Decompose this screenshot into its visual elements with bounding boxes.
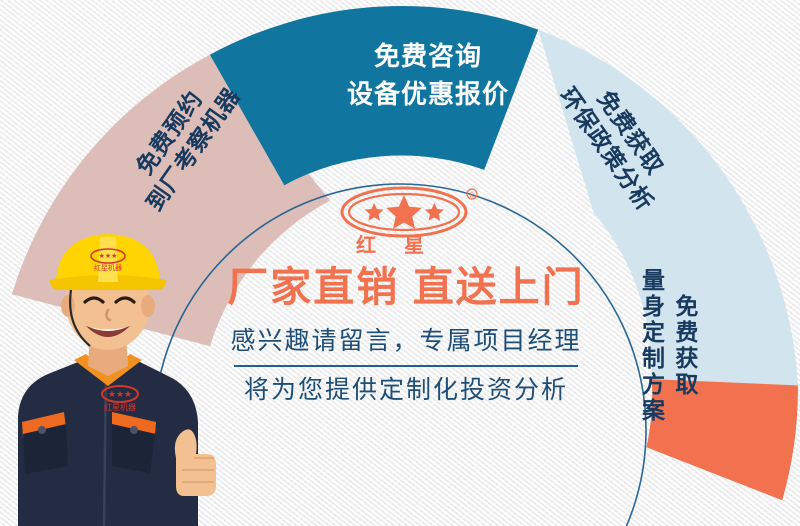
ear-right bbox=[141, 295, 155, 317]
svg-text:红星: 红星 bbox=[356, 233, 452, 257]
pocket-button-left bbox=[38, 426, 46, 434]
worker-photo: ★★★ 红星机器 bbox=[0, 226, 226, 526]
svg-text:★★★: ★★★ bbox=[99, 252, 118, 260]
promo-banner-stage: 免费预约 到厂考察机器 免费咨询 设备优惠报价 免费获取 环保政策分析 免费获取… bbox=[0, 0, 800, 526]
smiling-worker-thumbs-up-illustration: ★★★ 红星机器 bbox=[0, 226, 226, 526]
svg-text:红星机器: 红星机器 bbox=[94, 263, 122, 272]
subtitle-line-1: 感兴趣请留言，专属项目经理 bbox=[196, 325, 616, 358]
subtitle-divider bbox=[234, 365, 578, 367]
thumbs-up-hand bbox=[175, 429, 216, 496]
subtitle-line-2: 将为您提供定制化投资分析 bbox=[196, 374, 616, 407]
pocket-button-right bbox=[130, 426, 138, 434]
center-content: R 红星 厂家直销 直送上门 感兴趣请留言，专属项目经理 将为您提供定制化投资分… bbox=[196, 182, 616, 406]
svg-text:★★★: ★★★ bbox=[108, 389, 132, 399]
svg-text:红星机器: 红星机器 bbox=[104, 402, 136, 412]
wheel-segment-free-custom-plan[interactable] bbox=[647, 379, 798, 500]
three-star-oval-logo: R 红星 bbox=[326, 182, 486, 258]
svg-text:R: R bbox=[470, 191, 475, 199]
ear-left bbox=[61, 295, 75, 317]
headline: 厂家直销 直送上门 bbox=[196, 266, 616, 309]
brand-logo: R 红星 bbox=[321, 182, 491, 260]
